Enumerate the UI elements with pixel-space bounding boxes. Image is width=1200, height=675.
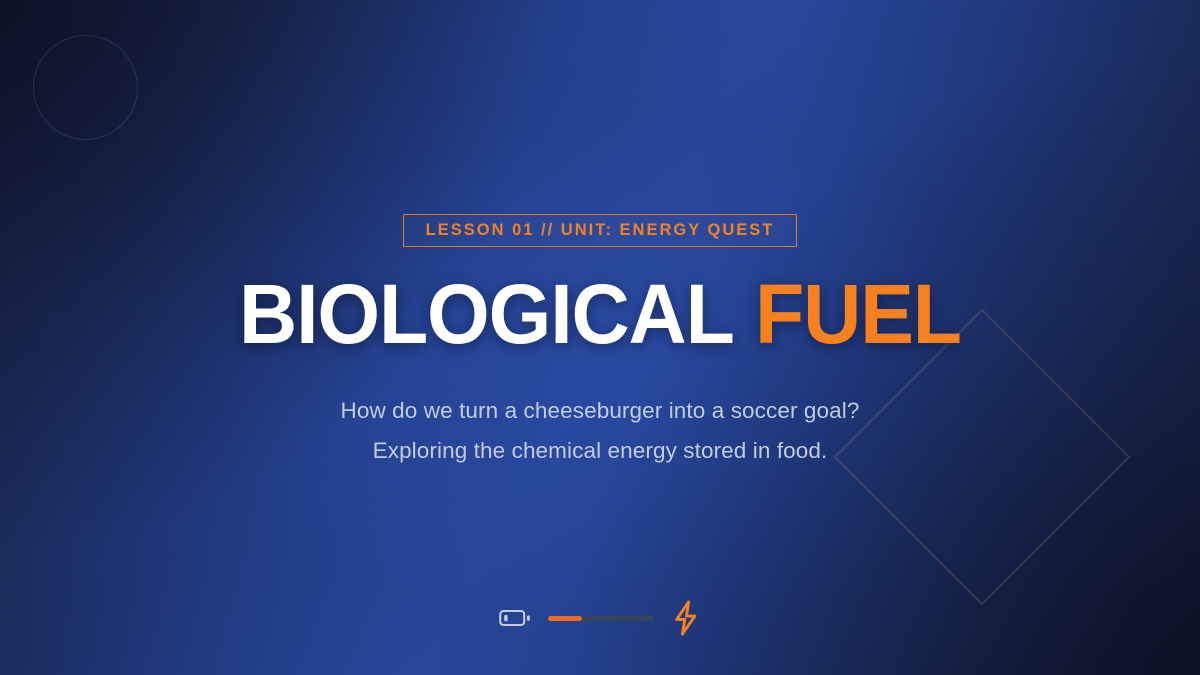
energy-progress-fill xyxy=(548,616,582,621)
lesson-unit-badge: LESSON 01 // UNIT: ENERGY QUEST xyxy=(403,214,798,247)
slide-content: LESSON 01 // UNIT: ENERGY QUEST BIOLOGIC… xyxy=(0,0,1200,675)
subtitle-line-1: How do we turn a cheeseburger into a soc… xyxy=(341,391,860,431)
title-accent-word: FUEL xyxy=(755,267,961,361)
title-slide: LESSON 01 // UNIT: ENERGY QUEST BIOLOGIC… xyxy=(0,0,1200,675)
page-title: BIOLOGICAL FUEL xyxy=(239,275,961,355)
title-space xyxy=(734,267,755,361)
energy-meter xyxy=(0,600,1200,636)
title-primary-word: BIOLOGICAL xyxy=(239,267,734,361)
battery-low-icon xyxy=(499,607,531,629)
lightning-bolt-icon xyxy=(671,600,701,636)
energy-progress-bar xyxy=(548,616,654,621)
slide-subtitle: How do we turn a cheeseburger into a soc… xyxy=(341,391,860,471)
subtitle-line-2: Exploring the chemical energy stored in … xyxy=(341,431,860,471)
